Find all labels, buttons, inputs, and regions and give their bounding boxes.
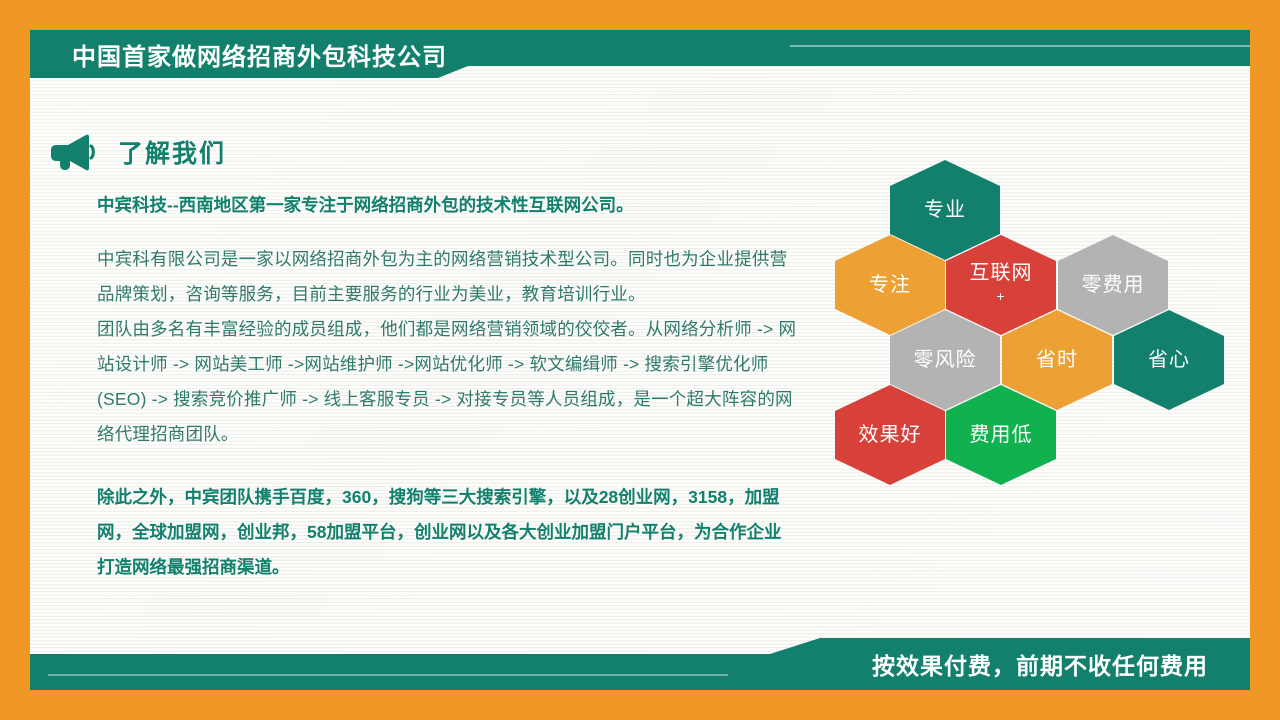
hexagon-label: 效果好 bbox=[859, 424, 922, 447]
hexagon-label: 省时 bbox=[1036, 349, 1078, 372]
footer-tagline: 按效果付费，前期不收任何费用 bbox=[872, 647, 1208, 681]
slide-canvas: 中国首家做网络招商外包科技公司 了解我们 中宾科技--西南地区第一家专注于网络招… bbox=[0, 0, 1280, 720]
paragraph-team-structure: 团队由多名有丰富经验的成员组成，他们都是网络营销领域的佼佼者。从网络分析师 ->… bbox=[97, 312, 797, 452]
megaphone-icon bbox=[48, 132, 96, 172]
header-title: 中国首家做网络招商外包科技公司 bbox=[72, 37, 447, 72]
header-hairline-divider bbox=[790, 45, 1250, 47]
lead-statement: 中宾科技--西南地区第一家专注于网络招商外包的技术性互联网公司。 bbox=[97, 190, 797, 220]
hexagon-label: 省心 bbox=[1148, 349, 1190, 372]
hexagon-label: 互联网 bbox=[970, 262, 1033, 285]
hexagon-label: 零风险 bbox=[914, 349, 977, 372]
header-banner: 中国首家做网络招商外包科技公司 bbox=[30, 30, 1250, 78]
hexagon-sublabel: + bbox=[996, 285, 1005, 307]
hexagon-label: 专注 bbox=[869, 274, 911, 297]
hexagon-label: 零费用 bbox=[1082, 274, 1145, 297]
hexagon-label: 费用低 bbox=[970, 424, 1033, 447]
body-copy: 中宾科技--西南地区第一家专注于网络招商外包的技术性互联网公司。 中宾科有限公司… bbox=[97, 190, 797, 585]
paragraph-partners: 除此之外，中宾团队携手百度，360，搜狗等三大搜索引擎，以及28创业网，3158… bbox=[97, 480, 797, 585]
section-heading: 了解我们 bbox=[48, 132, 226, 172]
hexagon-label: 专业 bbox=[924, 199, 966, 222]
hexagon-cluster: 专业 专注 互联网 + 零费用 零风险 省时 省心 效果好 费用低 bbox=[830, 150, 1250, 550]
section-title: 了解我们 bbox=[118, 134, 226, 170]
footer-banner: 按效果付费，前期不收任何费用 bbox=[30, 638, 1250, 690]
paragraph-company-intro: 中宾科有限公司是一家以网络招商外包为主的网络营销技术型公司。同时也为企业提供营品… bbox=[97, 242, 797, 312]
footer-hairline-divider bbox=[48, 674, 728, 676]
